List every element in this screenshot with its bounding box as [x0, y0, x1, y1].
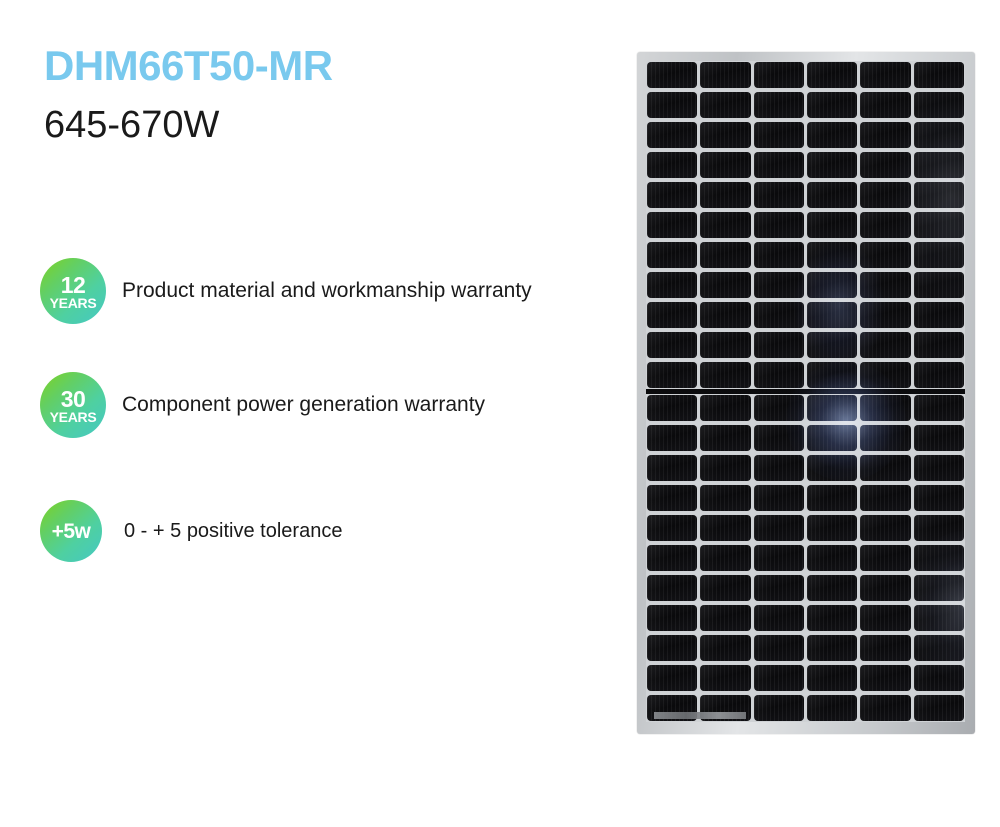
- solar-cell: [914, 302, 964, 328]
- solar-cell: [807, 695, 857, 721]
- solar-cell: [754, 152, 804, 178]
- solar-cell: [700, 272, 750, 298]
- solar-cell: [914, 212, 964, 238]
- solar-cell: [914, 605, 964, 631]
- solar-cell: [860, 182, 910, 208]
- solar-cell: [647, 302, 697, 328]
- solar-cell: [914, 635, 964, 661]
- solar-cell: [860, 92, 910, 118]
- solar-cell: [754, 665, 804, 691]
- badge-value: +5w: [52, 521, 91, 542]
- solar-cell: [700, 605, 750, 631]
- solar-cell: [807, 635, 857, 661]
- solar-cell: [860, 665, 910, 691]
- solar-cell: [647, 545, 697, 571]
- solar-cell: [647, 242, 697, 268]
- panel-cell-grid-bottom: [646, 394, 965, 722]
- solar-cell: [807, 395, 857, 421]
- solar-cell: [860, 455, 910, 481]
- solar-cell: [754, 515, 804, 541]
- solar-cell: [754, 425, 804, 451]
- solar-cell: [914, 425, 964, 451]
- solar-cell: [700, 332, 750, 358]
- solar-cell: [807, 212, 857, 238]
- panel-glass-surface: [646, 61, 965, 722]
- product-info-column: DHM66T50-MR 645-670W 12 YEARS Product ma…: [0, 0, 620, 827]
- product-power-rating: 645-670W: [44, 104, 219, 147]
- solar-cell: [860, 695, 910, 721]
- solar-cell: [754, 272, 804, 298]
- solar-cell: [914, 182, 964, 208]
- solar-cell: [914, 455, 964, 481]
- solar-cell: [700, 575, 750, 601]
- solar-cell: [700, 152, 750, 178]
- solar-cell: [700, 92, 750, 118]
- solar-cell: [700, 362, 750, 388]
- solar-panel-image: [637, 52, 975, 734]
- solar-cell: [860, 272, 910, 298]
- solar-cell: [647, 62, 697, 88]
- solar-cell: [914, 695, 964, 721]
- solar-cell: [700, 665, 750, 691]
- solar-cell: [914, 122, 964, 148]
- solar-cell: [914, 152, 964, 178]
- solar-cell: [700, 302, 750, 328]
- solar-cell: [860, 362, 910, 388]
- solar-cell: [807, 242, 857, 268]
- warranty-badge-30-years: 30 YEARS: [40, 372, 106, 438]
- solar-cell: [754, 575, 804, 601]
- feature-label: Component power generation warranty: [122, 393, 485, 416]
- solar-cell: [700, 242, 750, 268]
- badge-number: 30: [61, 389, 86, 410]
- solar-cell: [700, 635, 750, 661]
- solar-cell: [754, 62, 804, 88]
- solar-cell: [860, 635, 910, 661]
- solar-cell: [860, 332, 910, 358]
- solar-cell: [860, 545, 910, 571]
- solar-cell: [647, 212, 697, 238]
- solar-cell: [860, 425, 910, 451]
- solar-cell: [914, 62, 964, 88]
- solar-cell: [914, 665, 964, 691]
- solar-cell: [700, 545, 750, 571]
- solar-cell: [754, 605, 804, 631]
- solar-cell: [647, 332, 697, 358]
- solar-cell: [860, 122, 910, 148]
- solar-cell: [914, 242, 964, 268]
- solar-cell: [647, 362, 697, 388]
- solar-cell: [647, 272, 697, 298]
- solar-cell: [700, 515, 750, 541]
- solar-cell: [807, 455, 857, 481]
- solar-cell: [647, 665, 697, 691]
- solar-cell: [860, 212, 910, 238]
- badge-number: 12: [61, 275, 86, 296]
- feature-row-product-warranty: 12 YEARS Product material and workmanshi…: [40, 258, 532, 324]
- solar-cell: [700, 62, 750, 88]
- solar-cell: [860, 152, 910, 178]
- solar-cell: [700, 395, 750, 421]
- solar-cell: [807, 92, 857, 118]
- solar-cell: [914, 362, 964, 388]
- solar-cell: [914, 92, 964, 118]
- product-spec-banner: DHM66T50-MR 645-670W 12 YEARS Product ma…: [0, 0, 1000, 827]
- solar-cell: [700, 455, 750, 481]
- solar-cell: [754, 695, 804, 721]
- solar-cell: [860, 242, 910, 268]
- solar-cell: [754, 122, 804, 148]
- feature-label: Product material and workmanship warrant…: [122, 279, 532, 302]
- solar-cell: [647, 182, 697, 208]
- solar-cell: [647, 122, 697, 148]
- feature-row-positive-tolerance: +5w 0 - + 5 positive tolerance: [40, 500, 342, 562]
- solar-cell: [754, 545, 804, 571]
- solar-cell: [647, 605, 697, 631]
- solar-cell: [807, 605, 857, 631]
- solar-cell: [860, 605, 910, 631]
- solar-cell: [807, 425, 857, 451]
- solar-cell: [647, 92, 697, 118]
- solar-cell: [914, 272, 964, 298]
- warranty-badge-12-years: 12 YEARS: [40, 258, 106, 324]
- solar-cell: [647, 425, 697, 451]
- solar-cell: [914, 332, 964, 358]
- solar-cell: [754, 302, 804, 328]
- solar-cell: [914, 395, 964, 421]
- solar-cell: [860, 485, 910, 511]
- solar-cell: [914, 575, 964, 601]
- solar-cell: [700, 425, 750, 451]
- solar-cell: [754, 92, 804, 118]
- solar-cell: [647, 485, 697, 511]
- solar-cell: [807, 362, 857, 388]
- solar-cell: [860, 515, 910, 541]
- solar-cell: [860, 575, 910, 601]
- solar-cell: [754, 242, 804, 268]
- solar-cell: [807, 62, 857, 88]
- solar-cell: [754, 395, 804, 421]
- feature-row-power-warranty: 30 YEARS Component power generation warr…: [40, 372, 485, 438]
- panel-nameplate-sticker: [654, 712, 746, 719]
- product-model-title: DHM66T50-MR: [44, 42, 333, 90]
- solar-cell: [700, 485, 750, 511]
- solar-cell: [807, 272, 857, 298]
- solar-cell: [754, 635, 804, 661]
- solar-cell: [807, 515, 857, 541]
- solar-cell: [807, 332, 857, 358]
- badge-unit: YEARS: [50, 410, 97, 424]
- solar-cell: [807, 665, 857, 691]
- solar-cell: [700, 212, 750, 238]
- solar-cell: [807, 152, 857, 178]
- solar-cell: [807, 302, 857, 328]
- solar-cell: [914, 545, 964, 571]
- solar-cell: [754, 485, 804, 511]
- solar-cell: [807, 575, 857, 601]
- solar-cell: [807, 485, 857, 511]
- solar-cell: [754, 455, 804, 481]
- solar-cell: [807, 182, 857, 208]
- solar-cell: [700, 182, 750, 208]
- panel-aluminum-frame: [637, 52, 975, 734]
- tolerance-badge-plus-5w: +5w: [40, 500, 102, 562]
- solar-cell: [647, 575, 697, 601]
- solar-cell: [647, 515, 697, 541]
- solar-cell: [647, 152, 697, 178]
- solar-cell: [647, 395, 697, 421]
- solar-cell: [914, 485, 964, 511]
- badge-unit: YEARS: [50, 296, 97, 310]
- solar-cell: [754, 182, 804, 208]
- solar-cell: [754, 212, 804, 238]
- solar-cell: [860, 395, 910, 421]
- solar-cell: [647, 635, 697, 661]
- solar-cell: [807, 122, 857, 148]
- solar-cell: [807, 545, 857, 571]
- panel-cell-grid-top: [646, 61, 965, 389]
- solar-cell: [860, 62, 910, 88]
- solar-cell: [914, 515, 964, 541]
- solar-cell: [700, 122, 750, 148]
- feature-label: 0 - + 5 positive tolerance: [124, 520, 342, 542]
- solar-cell: [754, 332, 804, 358]
- solar-cell: [754, 362, 804, 388]
- solar-cell: [647, 455, 697, 481]
- solar-cell: [860, 302, 910, 328]
